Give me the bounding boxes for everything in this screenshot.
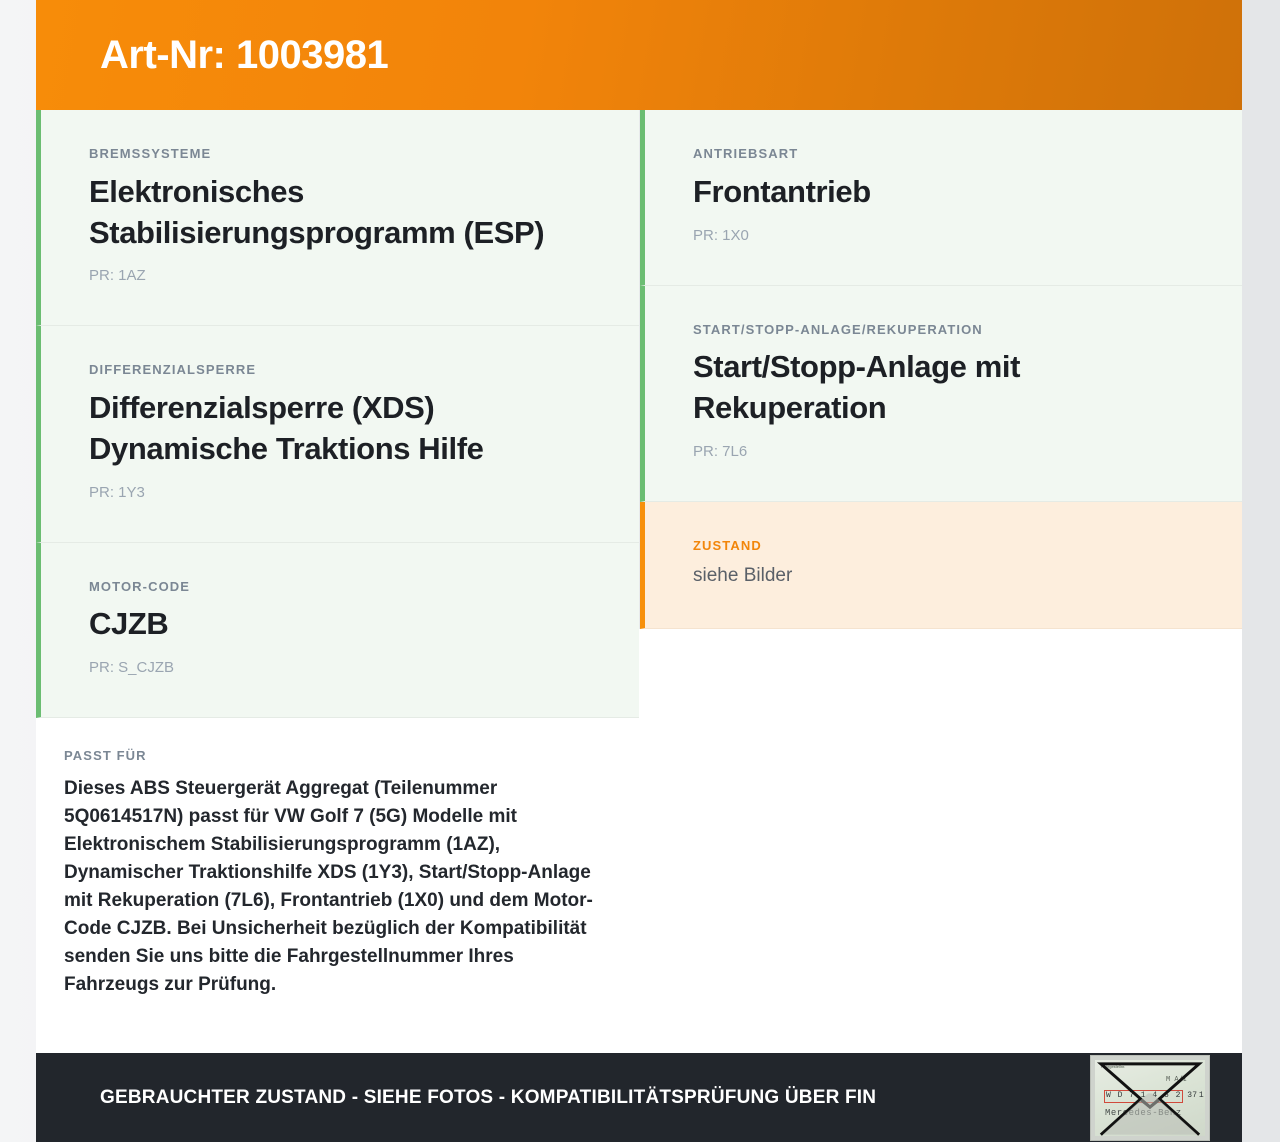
spec-columns: BREMSSYSTEME Elektronisches Stabilisieru… <box>36 110 1242 1053</box>
envelope-icon <box>1091 1056 1209 1141</box>
spec-card-start-stopp: START/STOPP-ANLAGE/REKUPERATION Start/St… <box>640 286 1242 502</box>
spec-label: START/STOPP-ANLAGE/REKUPERATION <box>693 322 1214 338</box>
spec-value: Differenzialsperre (XDS) Dynamische Trak… <box>89 388 611 470</box>
fits-for-label: PASST FÜR <box>64 748 595 763</box>
left-column: BREMSSYSTEME Elektronisches Stabilisieru… <box>36 110 639 1029</box>
document-thumbnail[interactable]: Fahrgestellnr. M A/I W D 7 1 4 6 2 3 1 3… <box>1090 1055 1210 1141</box>
spec-card-differenzialsperre: DIFFERENZIALSPERRE Differenzialsperre (X… <box>36 326 639 542</box>
footer-text: GEBRAUCHTER ZUSTAND - SIEHE FOTOS - KOMP… <box>36 1087 876 1109</box>
spec-pr-code: PR: 1Y3 <box>89 484 611 502</box>
page-title: Art-Nr: 1003981 <box>36 35 388 75</box>
fits-for-section: PASST FÜR Dieses ABS Steuergerät Aggrega… <box>36 718 639 1028</box>
spec-value: Elektronisches Stabilisierungsprogramm (… <box>89 172 611 254</box>
spec-pr-code: PR: S_CJZB <box>89 659 611 677</box>
spec-value: Frontantrieb <box>693 172 1214 213</box>
spec-card-motor-code: MOTOR-CODE CJZB PR: S_CJZB <box>36 543 639 719</box>
product-spec-card: Art-Nr: 1003981 BREMSSYSTEME Elektronisc… <box>36 0 1242 1142</box>
spec-card-antriebsart: ANTRIEBSART Frontantrieb PR: 1X0 <box>640 110 1242 286</box>
spec-label: ANTRIEBSART <box>693 146 1214 162</box>
spec-label: BREMSSYSTEME <box>89 146 611 162</box>
condition-value: siehe Bilder <box>693 564 1214 589</box>
right-column: ANTRIEBSART Frontantrieb PR: 1X0 START/S… <box>639 110 1242 629</box>
condition-label: ZUSTAND <box>693 538 1214 554</box>
fits-for-text: Dieses ABS Steuergerät Aggregat (Teilenu… <box>64 775 595 998</box>
spec-label: DIFFERENZIALSPERRE <box>89 362 611 378</box>
spec-pr-code: PR: 1X0 <box>693 227 1214 245</box>
footer-bar: GEBRAUCHTER ZUSTAND - SIEHE FOTOS - KOMP… <box>36 1053 1242 1142</box>
header-bar: Art-Nr: 1003981 <box>36 0 1242 110</box>
spec-pr-code: PR: 1AZ <box>89 267 611 285</box>
spec-pr-code: PR: 7L6 <box>693 443 1214 461</box>
spec-value: CJZB <box>89 604 611 645</box>
spec-value: Start/Stopp-Anlage mit Rekuperation <box>693 347 1214 429</box>
spec-label: MOTOR-CODE <box>89 579 611 595</box>
spec-card-bremssysteme: BREMSSYSTEME Elektronisches Stabilisieru… <box>36 110 639 326</box>
condition-card: ZUSTAND siehe Bilder <box>640 502 1242 629</box>
